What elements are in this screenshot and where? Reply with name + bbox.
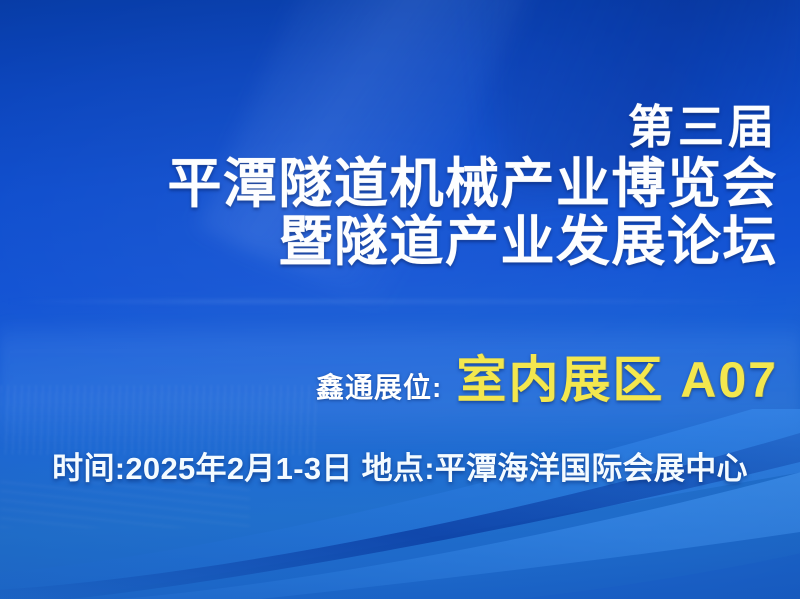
title-line-edition: 第三届: [18, 104, 778, 151]
booth-number: 室内展区 A07: [456, 340, 778, 412]
poster-content: 第三届 平潭隧道机械产业博览会 暨隧道产业发展论坛 鑫通展位: 室内展区 A07…: [0, 0, 800, 599]
booth-label: 鑫通展位:: [316, 366, 442, 406]
event-date-location: 时间:2025年2月1-3日 地点:平潭海洋国际会展中心: [0, 443, 800, 488]
title-line-main: 平潭隧道机械产业博览会: [18, 157, 778, 212]
exhibition-poster: 第三届 平潭隧道机械产业博览会 暨隧道产业发展论坛 鑫通展位: 室内展区 A07…: [0, 0, 800, 599]
title-line-sub: 暨隧道产业发展论坛: [18, 215, 778, 270]
poster-title-block: 第三届 平潭隧道机械产业博览会 暨隧道产业发展论坛: [18, 104, 778, 270]
booth-info-row: 鑫通展位: 室内展区 A07: [0, 340, 800, 412]
